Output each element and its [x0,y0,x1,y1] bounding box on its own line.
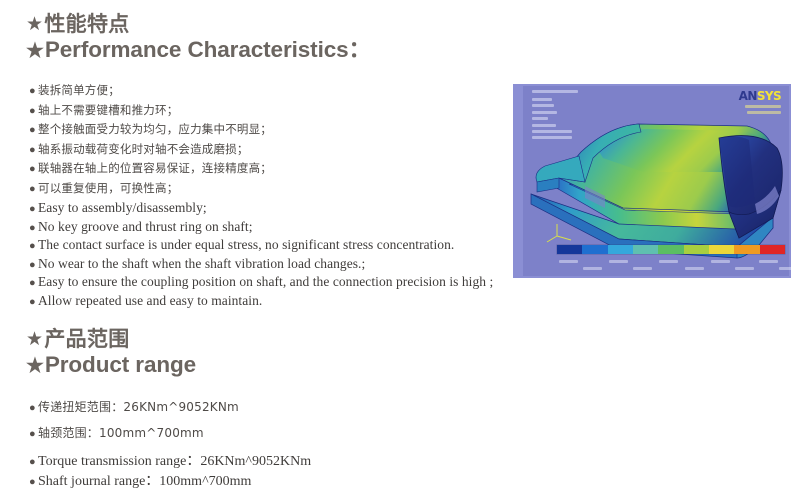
list-item: ● 联轴器在轴上的位置容易保证，连接精度高； [29,159,272,179]
bullet-icon: ● [29,429,38,440]
list-item-label: 轴上不需要键槽和推力环； [38,101,178,121]
bullet-icon: ● [29,260,38,271]
performance-heading-en-text: Performance Characteristics： [45,37,371,62]
list-item: ● Easy to ensure the coupling position o… [29,273,493,292]
list-item: ● Torque transmission range：26KNm^9052KN… [29,452,311,472]
bullet-icon: ● [29,106,38,117]
list-item-label: 轴系振动载荷变化时对轴不会造成磨损； [38,140,249,160]
fea-color-legend [557,245,785,254]
product-range-bullets-cn: ● 传递扭矩范围：26KNm^9052KNm ● 轴颈范围：100mm^700m… [29,394,239,446]
list-item-label: Shaft journal range：100mm^700mm [38,472,251,492]
list-item: ● 整个接触面受力较为均匀，应力集中不明显； [29,120,272,140]
fea-plot-area: ANSYS [523,86,789,276]
bullet-icon: ● [29,145,38,156]
list-item-label: 传递扭矩范围：26KNm^9052KNm [38,394,239,420]
performance-heading-en: ★Performance Characteristics： [26,36,371,64]
list-item: ● 装拆简单方便； [29,81,272,101]
fea-simulation-image: ANSYS [513,84,791,278]
list-item: ● No key groove and thrust ring on shaft… [29,218,493,237]
list-item-label: 装拆简单方便； [38,81,120,101]
product-range-heading-block: ★产品范围 ★Product range [26,327,196,379]
fea-legend-tick-labels [553,256,791,263]
bullet-icon: ● [29,457,38,468]
list-item-label: Torque transmission range：26KNm^9052KNm [38,452,311,472]
list-item-label: Easy to ensure the coupling position on … [38,273,493,292]
list-item: ● 轴上不需要键槽和推力环； [29,101,272,121]
performance-bullets-en: ● Easy to assembly/disassembly; ● No key… [29,199,493,310]
star-icon: ★ [26,329,43,351]
list-item-label: No wear to the shaft when the shaft vibr… [38,255,365,274]
performance-heading-block: ★性能特点 ★Performance Characteristics： [26,12,371,64]
bullet-icon: ● [29,184,38,195]
product-range-heading-cn-text: 产品范围 [44,327,129,351]
product-range-heading-en: ★Product range [26,351,196,379]
product-range-bullets-en: ● Torque transmission range：26KNm^9052KN… [29,452,311,492]
product-range-heading-cn: ★产品范围 [26,327,196,351]
list-item-label: 整个接触面受力较为均匀，应力集中不明显； [38,120,272,140]
list-item: ● 传递扭矩范围：26KNm^9052KNm [29,394,239,420]
list-item: ● 轴系振动载荷变化时对轴不会造成磨损； [29,140,272,160]
list-item: ● 轴颈范围：100mm^700mm [29,420,239,446]
bullet-icon: ● [29,125,38,136]
performance-heading-cn-text: 性能特点 [44,12,129,36]
bullet-icon: ● [29,403,38,414]
bullet-icon: ● [29,86,38,97]
bullet-icon: ● [29,204,38,215]
performance-heading-cn: ★性能特点 [26,12,371,36]
star-icon: ★ [26,14,43,36]
list-item: ● No wear to the shaft when the shaft vi… [29,255,493,274]
bullet-icon: ● [29,278,38,289]
list-item: ● Shaft journal range：100mm^700mm [29,472,311,492]
performance-bullets-cn: ● 装拆简单方便； ● 轴上不需要键槽和推力环； ● 整个接触面受力较为均匀，应… [29,81,272,198]
list-item: ● The contact surface is under equal str… [29,236,493,255]
list-item-label: Easy to assembly/disassembly; [38,199,207,218]
list-item-label: Allow repeated use and easy to maintain. [38,292,262,311]
star-icon: ★ [26,354,44,379]
list-item: ● Allow repeated use and easy to maintai… [29,292,493,311]
bullet-icon: ● [29,297,38,308]
bullet-icon: ● [29,223,38,234]
list-item-label: No key groove and thrust ring on shaft; [38,218,253,237]
list-item-label: 轴颈范围：100mm^700mm [38,420,204,446]
list-item: ● 可以重复使用，可换性高； [29,179,272,199]
bullet-icon: ● [29,241,38,252]
star-icon: ★ [26,39,44,64]
bullet-icon: ● [29,164,38,175]
axis-triad-icon [547,224,571,242]
list-item-label: The contact surface is under equal stres… [38,236,454,255]
list-item-label: 联轴器在轴上的位置容易保证，连接精度高； [38,159,272,179]
product-range-heading-en-text: Product range [45,352,196,377]
list-item: ● Easy to assembly/disassembly; [29,199,493,218]
bullet-icon: ● [29,477,38,488]
list-item-label: 可以重复使用，可换性高； [38,179,178,199]
